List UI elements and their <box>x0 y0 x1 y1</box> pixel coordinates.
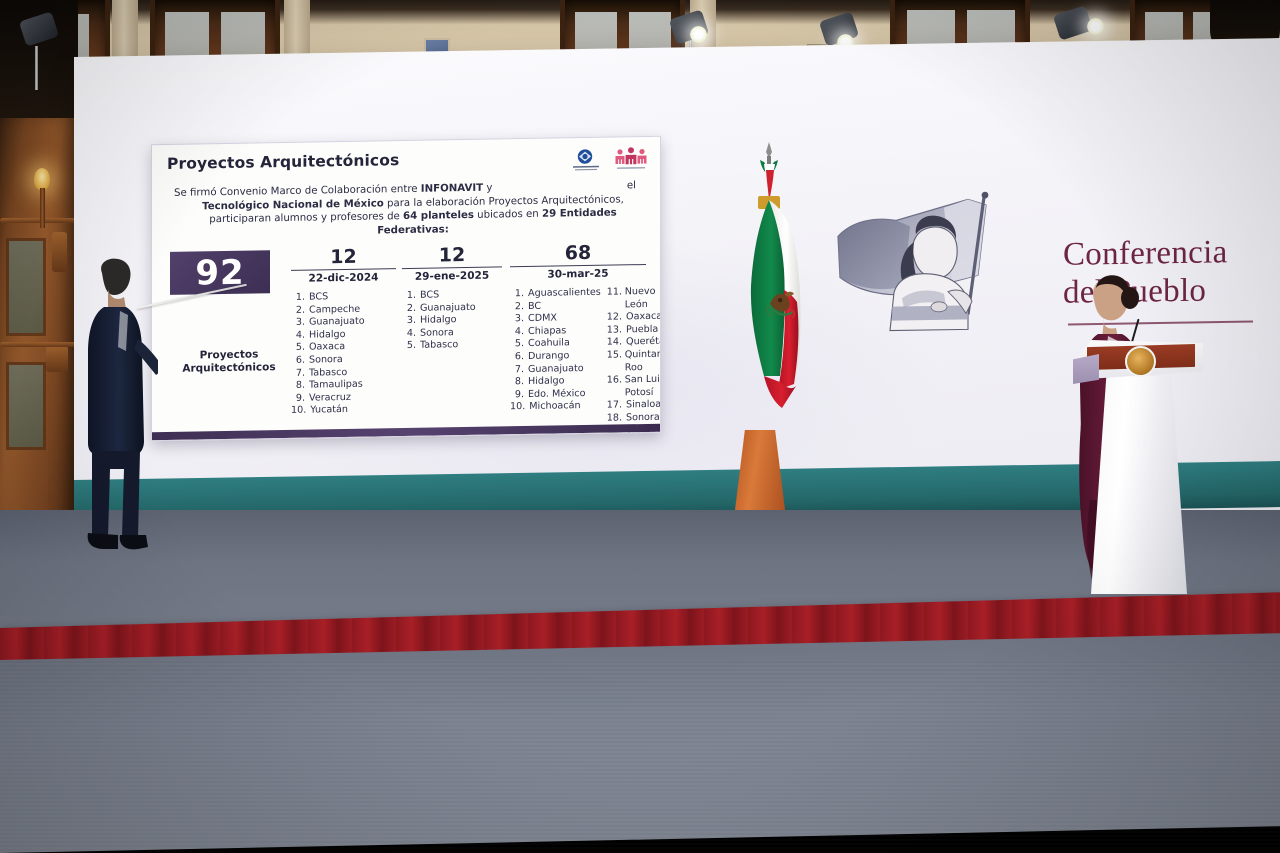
list-item-number: 16. <box>607 375 621 400</box>
list-item: 1.Aguascalientes <box>510 287 601 301</box>
list-item-label: Sonora <box>420 327 454 340</box>
list-item-number: 18. <box>607 412 622 425</box>
list-item-label: BC <box>528 300 541 313</box>
list-item-label: Guanajuato <box>528 363 584 377</box>
intro-text-f: ubicados en <box>474 209 542 221</box>
list-item-number: 3. <box>510 313 524 326</box>
light-stand <box>35 46 38 90</box>
list-item-number: 4. <box>510 326 524 339</box>
list-item-number: 17. <box>607 400 622 413</box>
list-item-label: Aguascalientes <box>528 287 601 301</box>
list-item-number: 9. <box>510 389 524 402</box>
hall-lamp-stem <box>40 188 45 228</box>
batch-column-1: 12 22-dic-2024 1.BCS2.Campeche3.Guanajua… <box>291 245 396 418</box>
list-item-label: CDMX <box>528 313 557 326</box>
studio-light-bulb <box>690 26 707 43</box>
list-item-number: 12. <box>607 312 622 325</box>
list-item-label: Oaxaca <box>626 311 661 324</box>
list-item-number: 9. <box>291 392 305 405</box>
list-item-number: 13. <box>607 324 622 337</box>
list-item-label: Guanajuato <box>309 316 365 330</box>
slide-title: Proyectos Arquitectónicos <box>167 151 399 173</box>
list-item: 14.Querétaro <box>607 336 661 350</box>
intro-infonavit: INFONAVIT <box>421 183 483 195</box>
list-item-number: 5. <box>291 342 305 355</box>
presenter-left <box>78 255 158 555</box>
list-item-number: 3. <box>402 315 416 328</box>
batch-3-count: 68 <box>510 241 646 265</box>
slide-logos <box>572 147 648 177</box>
podium-column <box>1091 376 1187 594</box>
list-item-label: BCS <box>309 291 328 304</box>
hall-lamp <box>34 168 50 190</box>
list-item-label: Tabasco <box>420 340 458 353</box>
batch-1-date: 22-dic-2024 <box>291 268 396 285</box>
slide-intro-paragraph: Se firmó Convenio Marco de Colaboración … <box>174 179 652 241</box>
list-item: 12.Oaxaca <box>607 311 661 325</box>
badge-caption-line2: Arquitectónicos <box>176 361 282 376</box>
intro-text-c: y <box>483 183 492 194</box>
list-item-label: Coahuila <box>528 338 570 351</box>
list-item-label: Tamaulipas <box>309 379 363 392</box>
list-item-label: Nuevo León <box>625 286 661 312</box>
list-item-label: Yucatán <box>310 404 348 417</box>
batch-1-list: 1.BCS2.Campeche3.Guanajuato4.Hidalgo5.Oa… <box>291 290 396 418</box>
list-item-number: 14. <box>607 337 622 350</box>
list-item-label: Veracruz <box>309 392 351 405</box>
infonavit-logo <box>614 147 648 177</box>
screenshot-root: Conferencia del Pueblo <box>0 0 1280 853</box>
list-item-label: Tabasco <box>309 367 347 380</box>
list-item: 10.Michoacán <box>510 400 601 414</box>
list-item: 11.Nuevo León <box>607 286 661 312</box>
list-item-number: 10. <box>510 401 525 414</box>
floor-texture <box>0 660 1280 853</box>
list-item-label: Puebla <box>626 324 658 337</box>
list-item-number: 2. <box>291 304 305 317</box>
intro-text-e: participaran alumnos y profesores de <box>209 211 403 225</box>
list-item-label: San Luis Potosí <box>625 374 661 400</box>
batch-column-2: 12 29-ene-2025 1.BCS2.Guanajuato3.Hidalg… <box>402 243 502 353</box>
list-item-label: Sonora <box>309 354 343 367</box>
list-item-number: 1. <box>291 292 305 305</box>
intro-tecnm: Tecnológico Nacional de México <box>202 198 384 212</box>
intro-el: el <box>627 179 636 193</box>
list-item-number: 3. <box>291 317 305 330</box>
list-item-label: Michoacán <box>529 400 580 413</box>
list-item-number: 1. <box>510 288 524 301</box>
mural-woman-with-flag <box>818 178 1038 371</box>
list-item-number: 7. <box>510 364 524 377</box>
list-item-label: Durango <box>528 350 569 363</box>
list-item-label: Quintana Roo <box>625 349 661 375</box>
list-item-label: BCS <box>420 289 439 302</box>
list-item: 5.Tabasco <box>402 339 502 353</box>
list-item-label: Hidalgo <box>420 314 456 327</box>
list-item-label: Querétaro <box>626 336 661 349</box>
intro-planteles: 64 planteles <box>403 210 474 222</box>
batch-1-count: 12 <box>291 245 396 269</box>
list-item-label: Chiapas <box>528 325 566 338</box>
mexican-flag <box>738 140 804 440</box>
list-item-number: 1. <box>402 290 416 303</box>
list-item: 16.San Luis Potosí <box>607 374 661 400</box>
batch-column-3: 68 30-mar-25 1.Aguascalientes2.BC3.CDMX4… <box>510 241 646 439</box>
list-item-number: 4. <box>291 329 305 342</box>
batch-2-list: 1.BCS2.Guanajuato3.Hidalgo4.Sonora5.Taba… <box>402 288 502 353</box>
list-item-number: 10. <box>291 405 306 418</box>
list-item-label: Hidalgo <box>309 329 345 342</box>
batch-3-list-b: 11.Nuevo León12.Oaxaca13.Puebla14.Querét… <box>607 286 661 438</box>
presidential-podium <box>1073 340 1203 595</box>
list-item-number: 15. <box>607 349 621 374</box>
list-item: 10.Yucatán <box>291 404 396 418</box>
list-item: 17.Sinaloa <box>607 399 661 413</box>
list-item-label: Guanajuato <box>420 301 476 315</box>
list-item-number: 7. <box>291 367 305 380</box>
list-item-label: Sinaloa <box>626 399 661 412</box>
studio-light-bulb <box>1087 18 1104 35</box>
list-item-number: 2. <box>510 301 524 314</box>
list-item-label: Oaxaca <box>309 341 345 354</box>
list-item-number: 11. <box>607 286 621 311</box>
list-item-number: 8. <box>510 376 524 389</box>
list-item-number: 5. <box>510 338 524 351</box>
list-item-number: 8. <box>291 380 305 393</box>
tecnm-logo <box>572 148 600 177</box>
total-projects-caption: Proyectos Arquitectónicos <box>176 348 282 376</box>
list-item-label: Hidalgo <box>528 376 564 389</box>
list-item-label: Campeche <box>309 303 360 316</box>
national-seal-emblem <box>1125 346 1156 377</box>
list-item-number: 5. <box>402 340 416 353</box>
list-item-number: 4. <box>402 328 416 341</box>
batch-2-date: 29-ene-2025 <box>402 266 502 283</box>
list-item-number: 6. <box>510 351 524 364</box>
list-item-number: 2. <box>402 302 416 315</box>
list-item-number: 6. <box>291 355 305 368</box>
list-item: 15.Quintana Roo <box>607 349 661 375</box>
batch-3-list-a: 1.Aguascalientes2.BC3.CDMX4.Chiapas5.Coa… <box>510 287 601 440</box>
batch-2-count: 12 <box>402 243 502 267</box>
